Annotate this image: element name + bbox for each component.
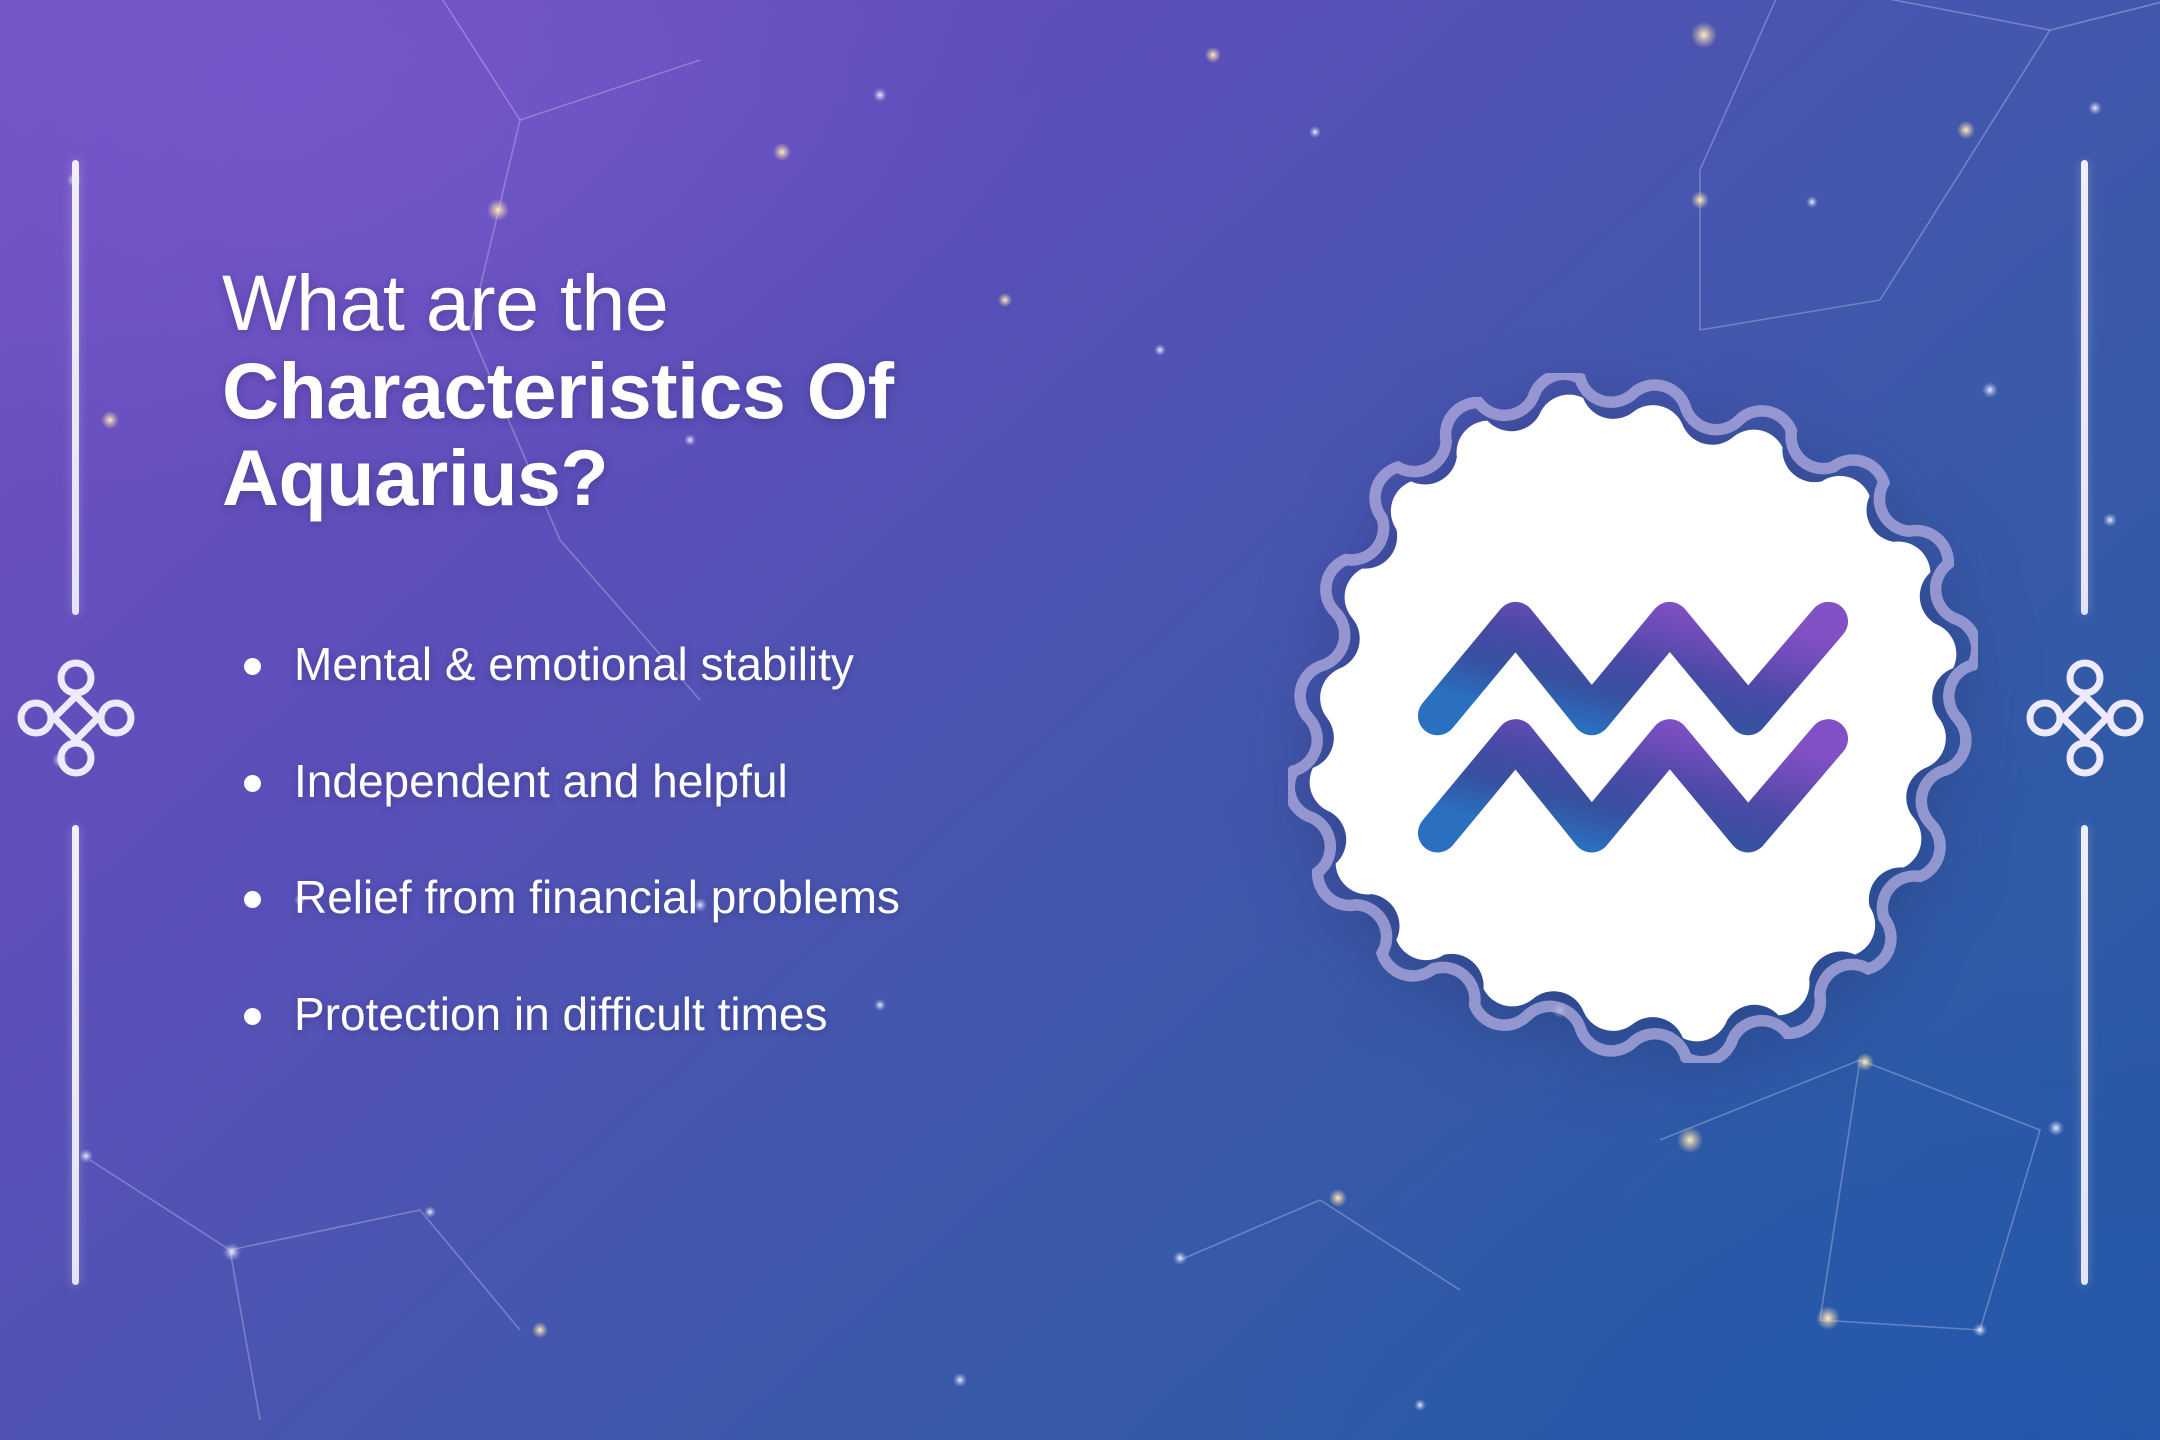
list-item: Relief from financial problems [222,861,1222,934]
list-item: Independent and helpful [222,745,1222,818]
bullet-dot-icon [244,658,261,675]
celtic-knot-icon [2023,656,2147,780]
celtic-knot-icon [14,656,138,780]
celtic-knot-ornament-right [2023,656,2147,780]
list-item: Protection in difficult times [222,978,1222,1051]
slide-canvas: What are the Characteristics Of Aquarius… [0,0,2160,1440]
list-item-label: Independent and helpful [294,755,788,807]
bullet-dot-icon [244,891,261,908]
right-divider-bottom [2081,825,2088,1285]
list-item-label: Relief from financial problems [294,871,900,923]
title-line-3: Aquarius? [222,434,1222,522]
title-line-1: What are the [222,259,1222,347]
bullet-dot-icon [244,1008,261,1025]
title-line-2: Characteristics Of [222,347,1222,435]
list-item-label: Protection in difficult times [294,988,828,1040]
celtic-knot-ornament-left [14,656,138,780]
page-title: What are the Characteristics Of Aquarius… [222,259,1222,522]
characteristics-list: Mental & emotional stability Independent… [222,628,1222,1051]
list-item: Mental & emotional stability [222,628,1222,701]
list-item-label: Mental & emotional stability [294,638,854,690]
bullet-dot-icon [244,775,261,792]
aquarius-seal-icon [1288,373,1978,1063]
right-divider-top [2081,160,2088,615]
left-divider-bottom [72,825,79,1285]
seal-body [1310,395,1957,1042]
aquarius-badge [1288,373,1978,1063]
left-divider-top [72,160,79,615]
text-column: What are the Characteristics Of Aquarius… [222,206,1222,1095]
